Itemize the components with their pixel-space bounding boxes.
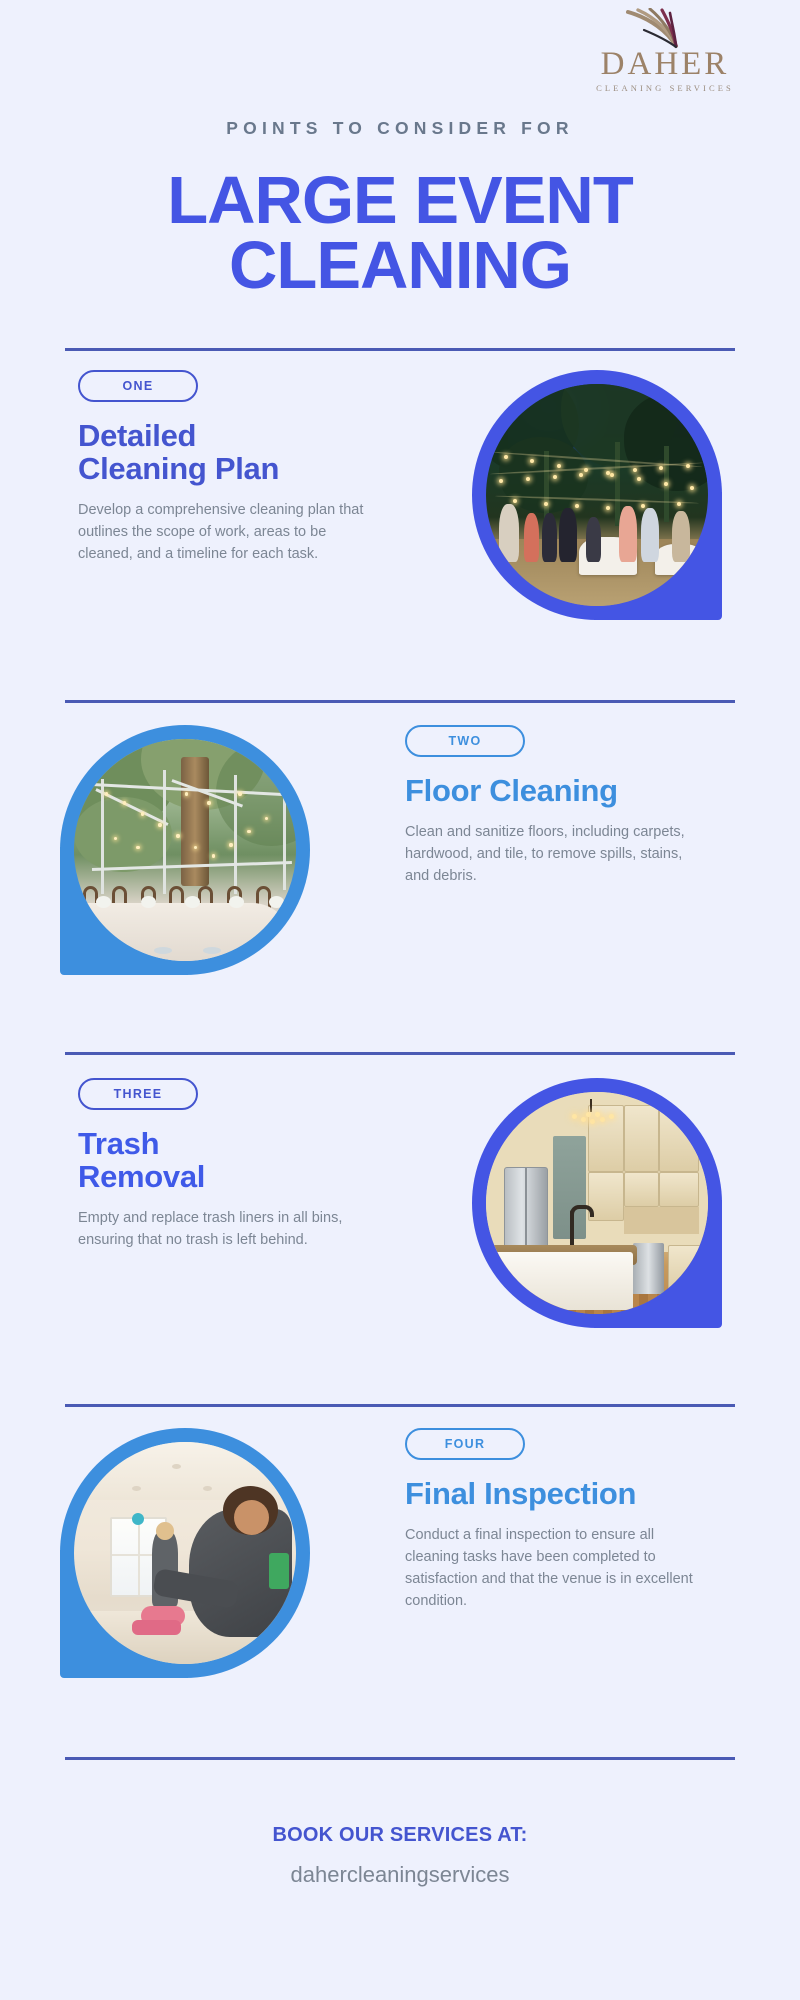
section-three-heading-line-2: Removal [78, 1160, 388, 1193]
section-one-heading: Detailed Cleaning Plan [78, 419, 388, 485]
divider [65, 1757, 735, 1760]
section-three-body: Empty and replace trash liners in all bi… [78, 1207, 378, 1251]
section-three-text: THREE Trash Removal Empty and replace tr… [78, 1078, 388, 1251]
section-three-heading: Trash Removal [78, 1127, 388, 1193]
page-title-line-2: CLEANING [0, 233, 800, 298]
page-title: LARGE EVENT CLEANING [0, 168, 800, 298]
section-three-heading-line-1: Trash [78, 1127, 388, 1160]
logo-wordmark: DAHER [570, 48, 760, 81]
divider [65, 1052, 735, 1055]
divider [65, 1404, 735, 1407]
section-four-text: FOUR Final Inspection Conduct a final in… [405, 1428, 715, 1612]
section-three-photo [472, 1078, 722, 1328]
brand-logo: DAHER CLEANING SERVICES [570, 8, 760, 88]
photo-image-kitchen [486, 1092, 708, 1314]
section-two-badge: TWO [405, 725, 525, 757]
section-two-body: Clean and sanitize floors, including car… [405, 821, 705, 887]
photo-image-tented-banquet [74, 739, 296, 961]
section-two-heading: Floor Cleaning [405, 774, 715, 807]
infographic-page: DAHER CLEANING SERVICES POINTS TO CONSID… [0, 0, 800, 2000]
section-four-badge: FOUR [405, 1428, 525, 1460]
page-title-line-1: LARGE EVENT [0, 168, 800, 233]
section-four-heading-line-1: Final Inspection [405, 1477, 715, 1510]
divider [65, 700, 735, 703]
section-one-photo [472, 370, 722, 620]
section-four-body: Conduct a final inspection to ensure all… [405, 1524, 705, 1612]
section-two-text: TWO Floor Cleaning Clean and sanitize fl… [405, 725, 715, 887]
section-four-heading: Final Inspection [405, 1477, 715, 1510]
section-three-badge: THREE [78, 1078, 198, 1110]
logo-tagline: CLEANING SERVICES [570, 83, 760, 93]
photo-image-outdoor-event [486, 384, 708, 606]
section-one-heading-line-1: Detailed [78, 419, 388, 452]
section-one-body: Develop a comprehensive cleaning plan th… [78, 499, 378, 565]
photo-image-final-inspection [74, 1442, 296, 1664]
section-one-text: ONE Detailed Cleaning Plan Develop a com… [78, 370, 388, 565]
section-one-badge: ONE [78, 370, 198, 402]
divider [65, 348, 735, 351]
section-one-heading-line-2: Cleaning Plan [78, 452, 388, 485]
footer-cta: BOOK OUR SERVICES AT: [0, 1824, 800, 1847]
kicker-text: POINTS TO CONSIDER FOR [0, 118, 800, 139]
section-four-photo [60, 1428, 310, 1678]
footer-website[interactable]: dahercleaningservices [0, 1862, 800, 1888]
section-two-heading-line-1: Floor Cleaning [405, 774, 715, 807]
feather-duster-fan-icon [610, 8, 720, 50]
section-two-photo [60, 725, 310, 975]
